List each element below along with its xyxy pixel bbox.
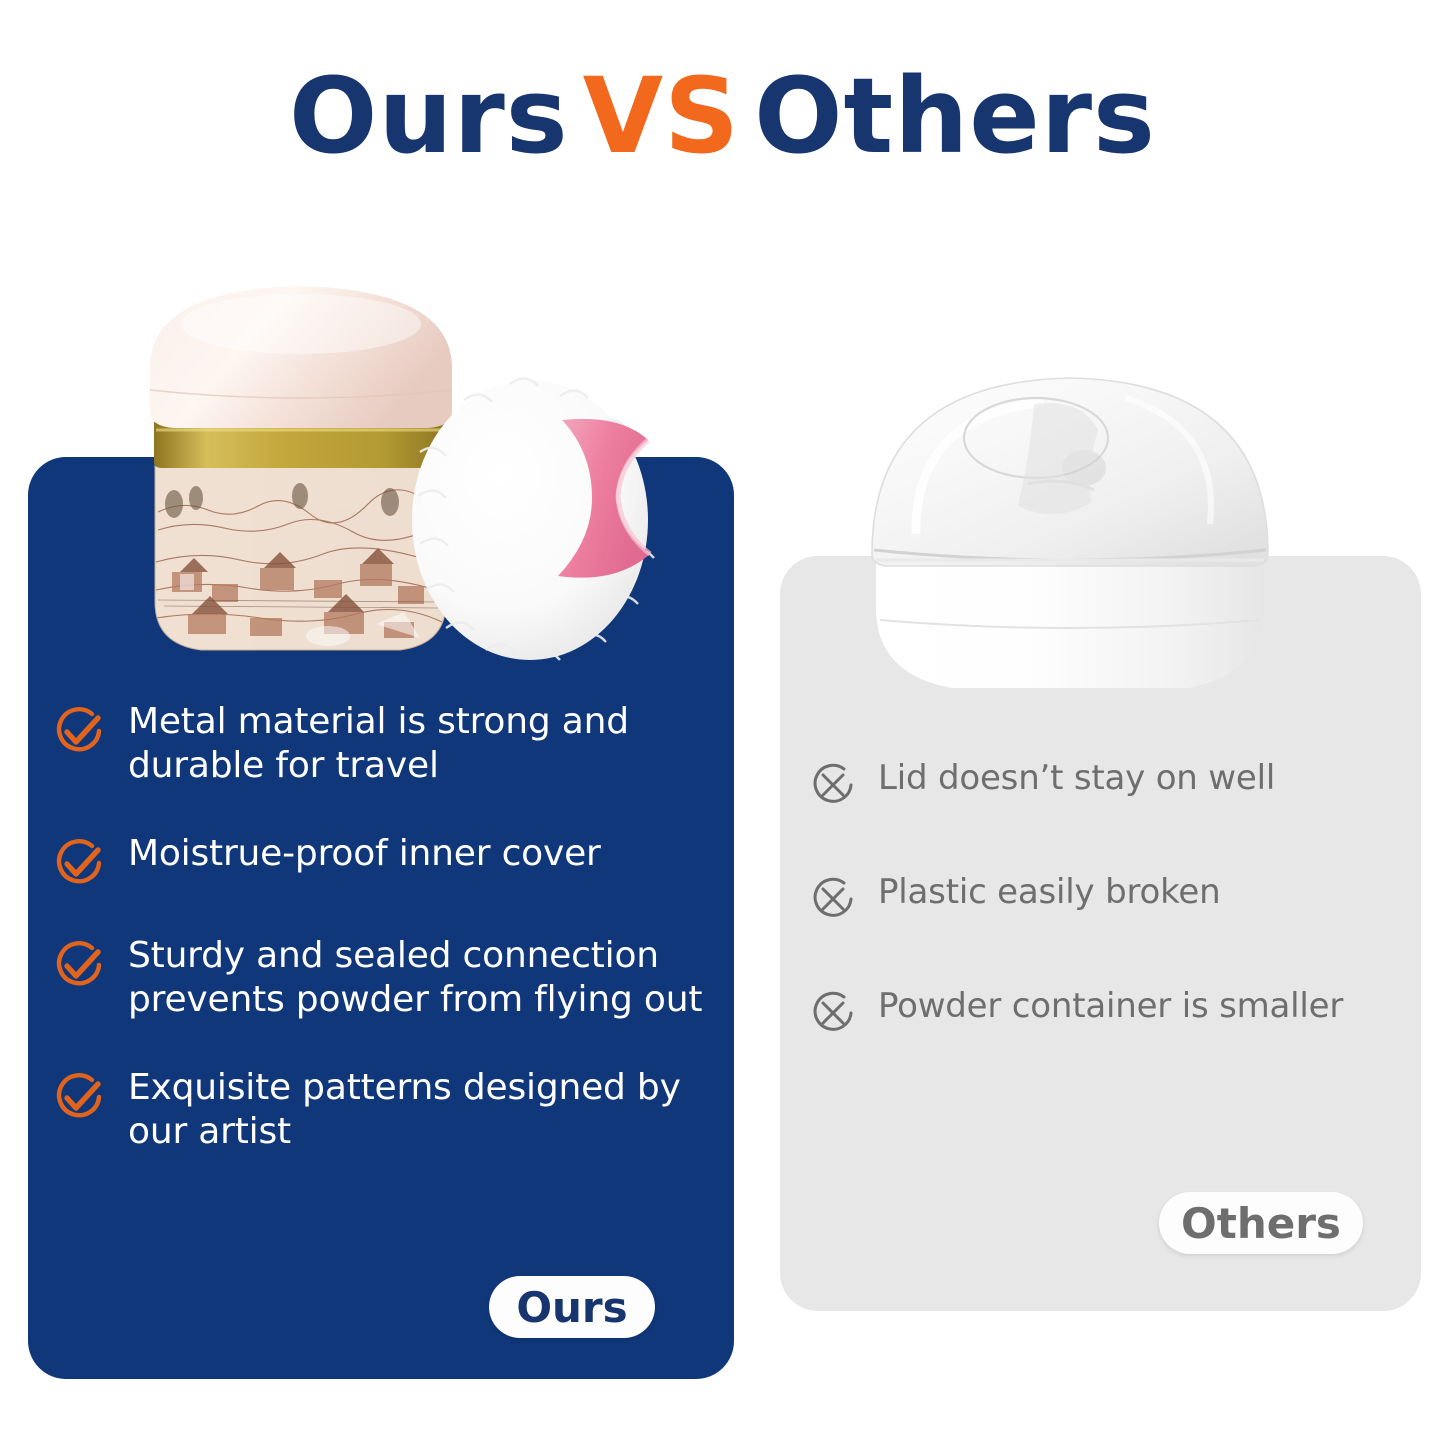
list-item: Lid doesn’t stay on well bbox=[808, 758, 1408, 810]
list-item: Plastic easily broken bbox=[808, 872, 1408, 924]
title-ours-word: Ours bbox=[289, 55, 569, 177]
check-circle-icon bbox=[52, 836, 106, 890]
check-circle-icon bbox=[52, 938, 106, 992]
others-product-image bbox=[858, 358, 1282, 722]
list-item-label: Sturdy and sealed connection prevents po… bbox=[128, 934, 717, 1022]
list-item: Sturdy and sealed connection prevents po… bbox=[52, 934, 717, 1022]
list-item-label: Exquisite patterns designed by our artis… bbox=[128, 1066, 717, 1154]
list-item-label: Moistrue-proof inner cover bbox=[128, 832, 601, 876]
title-vs-word: VS bbox=[569, 55, 754, 177]
list-item-label: Lid doesn’t stay on well bbox=[878, 758, 1275, 799]
title-others-word: Others bbox=[754, 55, 1156, 177]
check-circle-icon bbox=[52, 704, 106, 758]
x-circle-icon bbox=[808, 760, 858, 810]
others-drawback-list: Lid doesn’t stay on well Plastic easily … bbox=[808, 758, 1408, 1038]
ours-badge: Ours bbox=[489, 1276, 655, 1338]
comparison-infographic: OursVSOthers bbox=[0, 0, 1445, 1445]
ours-product-image bbox=[128, 272, 706, 672]
list-item-label: Powder container is smaller bbox=[878, 986, 1343, 1027]
check-circle-icon bbox=[52, 1070, 106, 1124]
others-badge: Others bbox=[1159, 1192, 1363, 1254]
page-title: OursVSOthers bbox=[0, 62, 1445, 171]
x-circle-icon bbox=[808, 874, 858, 924]
list-item: Powder container is smaller bbox=[808, 986, 1408, 1038]
list-item-label: Plastic easily broken bbox=[878, 872, 1220, 913]
list-item-label: Metal material is strong and durable for… bbox=[128, 700, 717, 788]
list-item: Metal material is strong and durable for… bbox=[52, 700, 717, 788]
list-item: Exquisite patterns designed by our artis… bbox=[52, 1066, 717, 1154]
x-circle-icon bbox=[808, 988, 858, 1038]
list-item: Moistrue-proof inner cover bbox=[52, 832, 717, 890]
ours-feature-list: Metal material is strong and durable for… bbox=[52, 700, 717, 1153]
